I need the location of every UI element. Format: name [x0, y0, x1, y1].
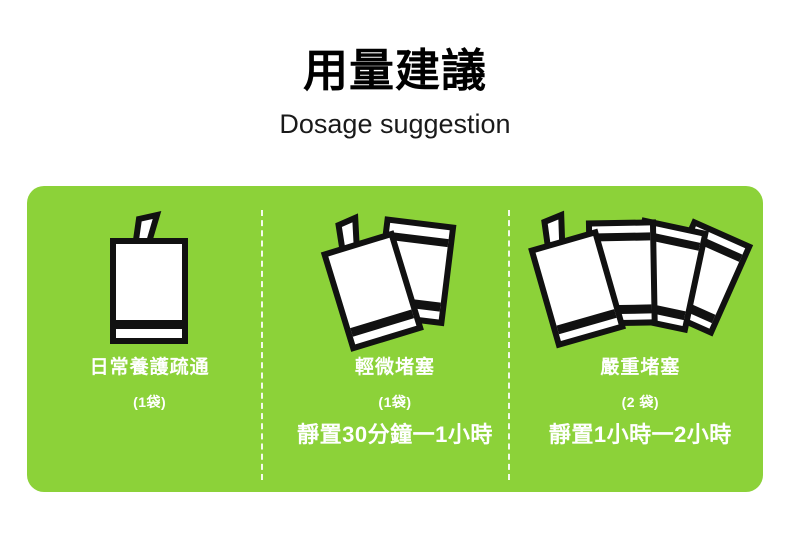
- column-quantity: (2 袋): [622, 380, 660, 412]
- two-sachets-icon: [272, 204, 517, 352]
- one-sachet-icon: [27, 204, 272, 352]
- dosage-column-daily-care: 日常養護疏通 (1袋): [27, 186, 272, 492]
- column-title: 輕微堵塞: [355, 352, 435, 380]
- page-title: 用量建議: [0, 0, 790, 98]
- dosage-column-mild-clog: 輕微堵塞 (1袋) 靜置30分鐘一1小時: [272, 186, 517, 492]
- column-time: 靜置1小時一2小時: [549, 412, 732, 449]
- column-time: 靜置30分鐘一1小時: [297, 412, 493, 449]
- four-sachets-icon: [518, 204, 763, 352]
- column-quantity: (1袋): [133, 380, 166, 412]
- dosage-column-severe-clog: 嚴重堵塞 (2 袋) 靜置1小時一2小時: [518, 186, 763, 492]
- column-quantity: (1袋): [378, 380, 411, 412]
- column-title: 嚴重堵塞: [600, 352, 680, 380]
- page-header: 用量建議 Dosage suggestion: [0, 0, 790, 140]
- dosage-panel: 日常養護疏通 (1袋) 輕微堵塞 (1袋) 靜置3: [27, 186, 763, 492]
- column-title: 日常養護疏通: [90, 352, 210, 380]
- page-subtitle: Dosage suggestion: [0, 98, 790, 140]
